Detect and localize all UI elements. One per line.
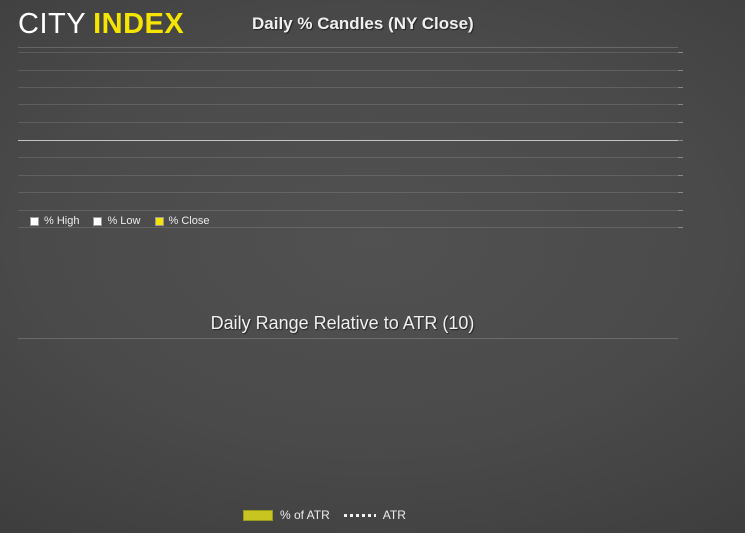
gridline xyxy=(18,227,678,228)
bottom-chart-title: Daily Range Relative to ATR (10) xyxy=(0,313,685,334)
gridline xyxy=(18,87,678,88)
bottom-title-divider xyxy=(18,338,678,339)
y-tickmark xyxy=(678,122,683,123)
y-tickmark xyxy=(678,210,683,211)
brand-word-index: INDEX xyxy=(93,8,184,40)
legend-label-close: % Close xyxy=(169,215,210,227)
legend-swatch-atr-line-icon xyxy=(344,514,376,517)
y-tickmark xyxy=(678,87,683,88)
legend-swatch-high-icon xyxy=(30,217,39,226)
gridline xyxy=(18,157,678,158)
legend-label-pct-atr: % of ATR xyxy=(280,508,330,522)
y-tickmark xyxy=(678,70,683,71)
gridline xyxy=(18,210,678,211)
gridline xyxy=(18,192,678,193)
brand-word-city: CITY xyxy=(18,8,86,40)
gridline xyxy=(18,52,678,53)
gridline xyxy=(18,70,678,71)
header-divider xyxy=(18,47,678,48)
bottom-chart-legend: % of ATR ATR xyxy=(243,508,420,522)
y-tickmark xyxy=(678,192,683,193)
legend-item-low: % Low xyxy=(93,215,140,227)
brand-logo: CITYINDEX xyxy=(18,8,184,41)
y-tickmark xyxy=(678,157,683,158)
y-tickmark xyxy=(678,104,683,105)
chart-page: CITYINDEX Daily % Candles (NY Close) % H… xyxy=(0,0,745,533)
legend-item-close: % Close xyxy=(155,215,210,227)
legend-label-atr: ATR xyxy=(383,508,406,522)
legend-item-atr: ATR xyxy=(344,508,406,522)
page-header: CITYINDEX Daily % Candles (NY Close) xyxy=(0,0,745,50)
y-tickmark xyxy=(678,52,683,53)
top-chart-legend: % High % Low % Close xyxy=(30,215,223,227)
top-chart-title: Daily % Candles (NY Close) xyxy=(252,14,474,34)
legend-item-pct-atr: % of ATR xyxy=(243,508,330,522)
legend-label-low: % Low xyxy=(107,215,140,227)
legend-swatch-low-icon xyxy=(93,217,102,226)
gridline xyxy=(18,175,678,176)
zero-line xyxy=(18,140,678,141)
y-tickmark xyxy=(678,140,683,141)
legend-item-high: % High xyxy=(30,215,79,227)
y-tickmark xyxy=(678,175,683,176)
daily-range-atr-chart xyxy=(18,344,678,440)
gridline xyxy=(18,104,678,105)
legend-swatch-close-icon xyxy=(155,217,164,226)
gridline xyxy=(18,122,678,123)
y-tickmark xyxy=(678,227,683,228)
legend-label-high: % High xyxy=(44,215,79,227)
legend-swatch-pct-atr-icon xyxy=(243,510,273,521)
